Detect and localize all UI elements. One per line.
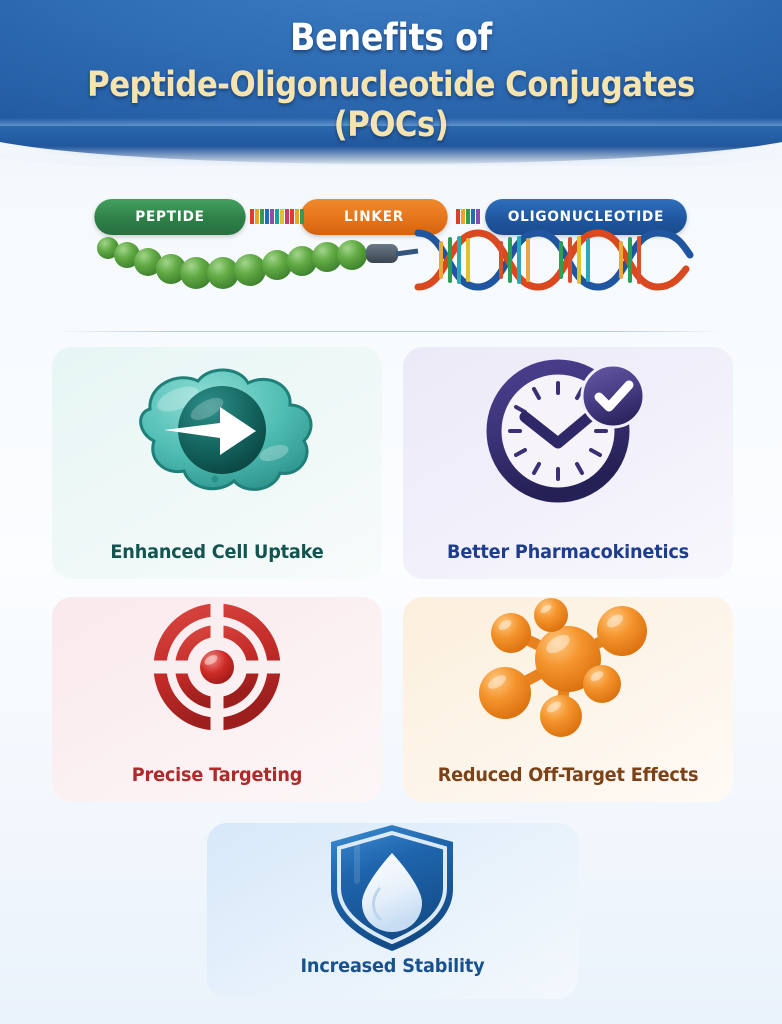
card-label-better-pharmacokinetics: Better Pharmacokinetics (415, 541, 722, 563)
card-label-enhanced-cell-uptake: Enhanced Cell Uptake (64, 541, 371, 563)
crosshair-target-icon (52, 597, 382, 747)
cell-uptake-arrow-icon (52, 347, 382, 517)
header-fade (0, 146, 782, 166)
title-line-2: Peptide-Oligonucleotide Conjugates (POCs… (47, 65, 735, 145)
card-label-increased-stability: Increased Stability (220, 955, 565, 977)
card-increased-stability[interactable]: Increased Stability (207, 823, 578, 999)
page-title: Benefits of Peptide-Oligonucleotide Conj… (0, 16, 782, 145)
shield-droplet-icon (207, 823, 578, 953)
title-line-1: Benefits of (39, 16, 743, 59)
card-label-reduced-off-target-effects: Reduced Off-Target Effects (415, 764, 722, 786)
card-precise-targeting[interactable]: Precise Targeting (52, 597, 382, 802)
card-reduced-off-target-effects[interactable]: Reduced Off-Target Effects (403, 597, 733, 802)
header-banner: Benefits of Peptide-Oligonucleotide Conj… (0, 0, 782, 166)
card-label-precise-targeting: Precise Targeting (64, 764, 371, 786)
card-better-pharmacokinetics[interactable]: Better Pharmacokinetics (403, 347, 733, 579)
card-enhanced-cell-uptake[interactable]: Enhanced Cell Uptake (52, 347, 382, 579)
section-divider (55, 331, 727, 332)
clock-check-icon (403, 347, 733, 517)
peptide-bead-chain (97, 237, 367, 289)
molecule-nodes-icon (403, 597, 733, 747)
molecule-illustration (0, 185, 782, 325)
poc-structure-diagram: PEPTIDE LINKER OLIGONUCLEOTIDE (0, 185, 782, 325)
linker-rod (366, 244, 418, 263)
dna-double-helix (418, 233, 690, 287)
